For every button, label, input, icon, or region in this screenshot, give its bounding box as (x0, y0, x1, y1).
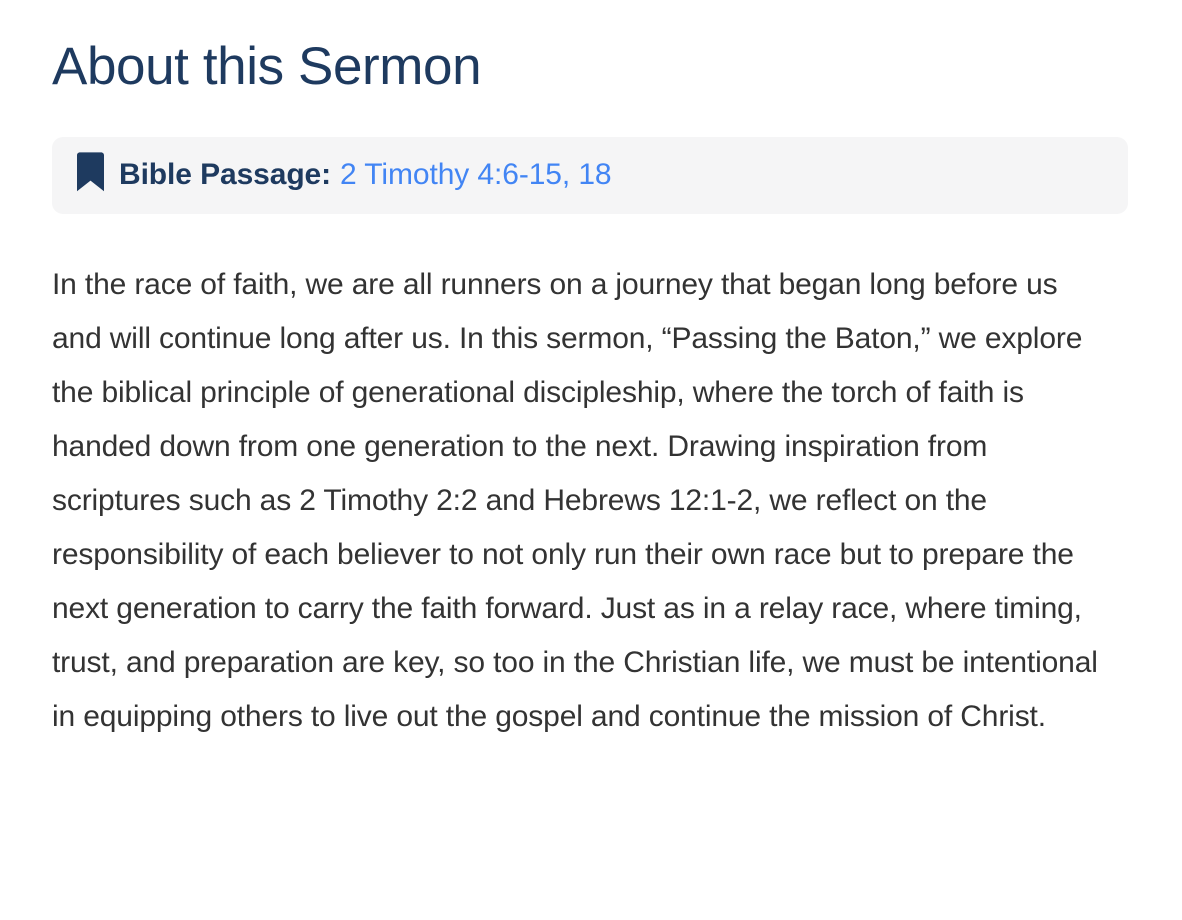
bible-passage-text: Bible Passage: 2 Timothy 4:6-15, 18 (119, 160, 612, 190)
bookmark-icon (74, 152, 107, 192)
sermon-description: In the race of faith, we are all runners… (52, 214, 1114, 744)
bible-passage-banner: Bible Passage: 2 Timothy 4:6-15, 18 (52, 137, 1128, 214)
bible-passage-reference-link[interactable]: 2 Timothy 4:6-15, 18 (340, 160, 612, 190)
about-sermon-section: About this Sermon Bible Passage: 2 Timot… (0, 0, 1182, 920)
page-title: About this Sermon (52, 0, 1130, 99)
bible-passage-label: Bible Passage: (119, 160, 331, 190)
